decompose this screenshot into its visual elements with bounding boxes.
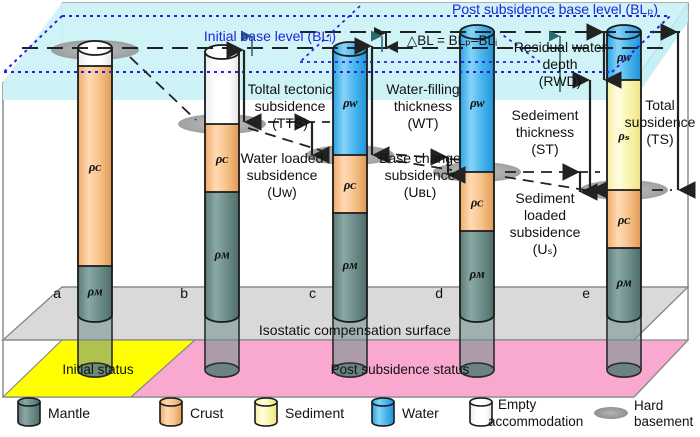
- density-label-d-crust: ρᴄ: [470, 196, 483, 210]
- legend-label-basement-2: basement: [634, 414, 694, 429]
- density-label-e-water: ρᴡ: [616, 50, 632, 64]
- isostatic-surface-label: Isostatic compensation surface: [259, 322, 451, 338]
- base-change-subsidence-line-0: Base change: [379, 150, 461, 166]
- column-label-e: e: [582, 285, 590, 301]
- legend-label-empty-2: accommodation: [488, 414, 583, 429]
- density-label-b-mantle: ρᴍ: [214, 248, 230, 262]
- sediment-loaded-subsidence-line-2: subsidence: [510, 224, 581, 240]
- legend: MantleCrustSedimentWaterEmptyaccommodati…: [18, 397, 694, 429]
- density-label-a-crust: ρᴄ: [88, 160, 101, 174]
- sediment-loaded-subsidence-line-1: loaded: [524, 207, 566, 223]
- hard-basement-swatch: [594, 407, 628, 419]
- legend-label-basement-1: Hard: [634, 398, 663, 413]
- initial-status-label: Initial status: [62, 362, 134, 377]
- water-filling-thickness-line-2: (WT): [407, 115, 438, 131]
- total-tectonic-subsidence-line-1: subsidence: [255, 98, 326, 114]
- legend-label-empty-1: Empty: [498, 397, 537, 412]
- density-label-a-mantle: ρᴍ: [87, 285, 103, 299]
- column-label-c: c: [309, 285, 316, 301]
- base-change-subsidence-line-2: (Uʙʟ): [404, 184, 437, 200]
- water-filling-thickness-line-1: thickness: [394, 98, 452, 114]
- density-label-e-sediment: ρₛ: [617, 129, 629, 143]
- column-label-a: a: [53, 285, 61, 301]
- water-filling-thickness: Water-fillingthickness(WT): [386, 81, 459, 131]
- water-loaded-subsidence-line-0: Water loaded: [241, 150, 324, 166]
- legend-item-mantle[interactable]: Mantle: [18, 398, 90, 426]
- water-loaded-subsidence-line-1: subsidence: [247, 167, 318, 183]
- column-label-d: d: [435, 285, 443, 301]
- legend-label-water: Water: [402, 405, 439, 421]
- density-label-c-water: ρᴡ: [342, 96, 358, 110]
- post-base-level-label: Post subsidence base level (BLₚ): [452, 1, 658, 17]
- residual-water-depth-line-2: (RWD): [539, 73, 582, 89]
- sediment-thickness-line-2: (ST): [531, 141, 558, 157]
- residual-water-depth-line-1: depth: [542, 56, 577, 72]
- density-label-e-crust: ρᴄ: [617, 213, 630, 227]
- legend-item-crust[interactable]: Crust: [160, 398, 224, 426]
- water-loaded-subsidence-line-2: (Uᴡ): [267, 184, 297, 200]
- total-tectonic-subsidence-line-0: Toltal tectonic: [248, 81, 333, 97]
- water-filling-thickness-line-0: Water-filling: [386, 81, 459, 97]
- figure-root: ρᴄρᴍaρᴄρᴍbρᴡρᴄρᴍcρᴡρᴄρᴍdρᴡρₛρᴄρᴍe: [0, 0, 700, 437]
- base-change-subsidence: Base changesubsidence(Uʙʟ): [379, 150, 461, 200]
- density-label-e-mantle: ρᴍ: [616, 276, 632, 290]
- density-label-d-mantle: ρᴍ: [469, 267, 485, 281]
- segment-b-empty: [205, 52, 239, 131]
- sediment-loaded-subsidence-line-0: Sediment: [515, 190, 574, 206]
- sediment-thickness: Sedeimentthickness(ST): [512, 107, 579, 157]
- sediment-loaded-subsidence-line-3: (Uₛ): [533, 241, 558, 257]
- post-status-label: Post subsidence status: [331, 362, 470, 377]
- sediment-loaded-subsidence: Sedimentloadedsubsidence(Uₛ): [510, 190, 581, 257]
- legend-label-crust: Crust: [190, 405, 224, 421]
- density-label-c-mantle: ρᴍ: [342, 258, 358, 272]
- total-subsidence-line-2: (TS): [646, 131, 673, 147]
- sediment-thickness-line-0: Sedeiment: [512, 107, 579, 123]
- initial-base-level-label: Initial base level (BLᵢ): [204, 28, 336, 44]
- base-change-subsidence-line-1: subsidence: [385, 167, 456, 183]
- total-tectonic-subsidence-line-2: (TTS): [272, 115, 308, 131]
- water-loaded-subsidence: Water loadedsubsidence(Uᴡ): [241, 150, 324, 200]
- sediment-thickness-line-1: thickness: [516, 124, 574, 140]
- total-subsidence-line-1: subsidence: [625, 114, 696, 130]
- density-label-b-crust: ρᴄ: [215, 152, 228, 166]
- total-subsidence-line-0: Total: [645, 97, 675, 113]
- residual-water-depth-line-0: Residual water: [514, 39, 607, 55]
- legend-label-mantle: Mantle: [48, 405, 90, 421]
- density-label-d-water: ρᴡ: [469, 96, 485, 110]
- legend-item-sediment[interactable]: Sediment: [255, 398, 344, 426]
- delta-bl-label: △BL = BLₚ–BLᵢ: [407, 33, 497, 48]
- density-label-c-crust: ρᴄ: [343, 178, 356, 192]
- column-label-b: b: [180, 285, 188, 301]
- subsidence-diagram: ρᴄρᴍaρᴄρᴍbρᴡρᴄρᴍcρᴡρᴄρᴍdρᴡρₛρᴄρᴍe: [0, 0, 700, 437]
- legend-item-water[interactable]: Water: [372, 398, 439, 426]
- legend-label-sediment: Sediment: [285, 405, 344, 421]
- legend-item-basement[interactable]: Hardbasement: [594, 398, 694, 429]
- legend-item-empty[interactable]: Emptyaccommodation: [470, 397, 583, 429]
